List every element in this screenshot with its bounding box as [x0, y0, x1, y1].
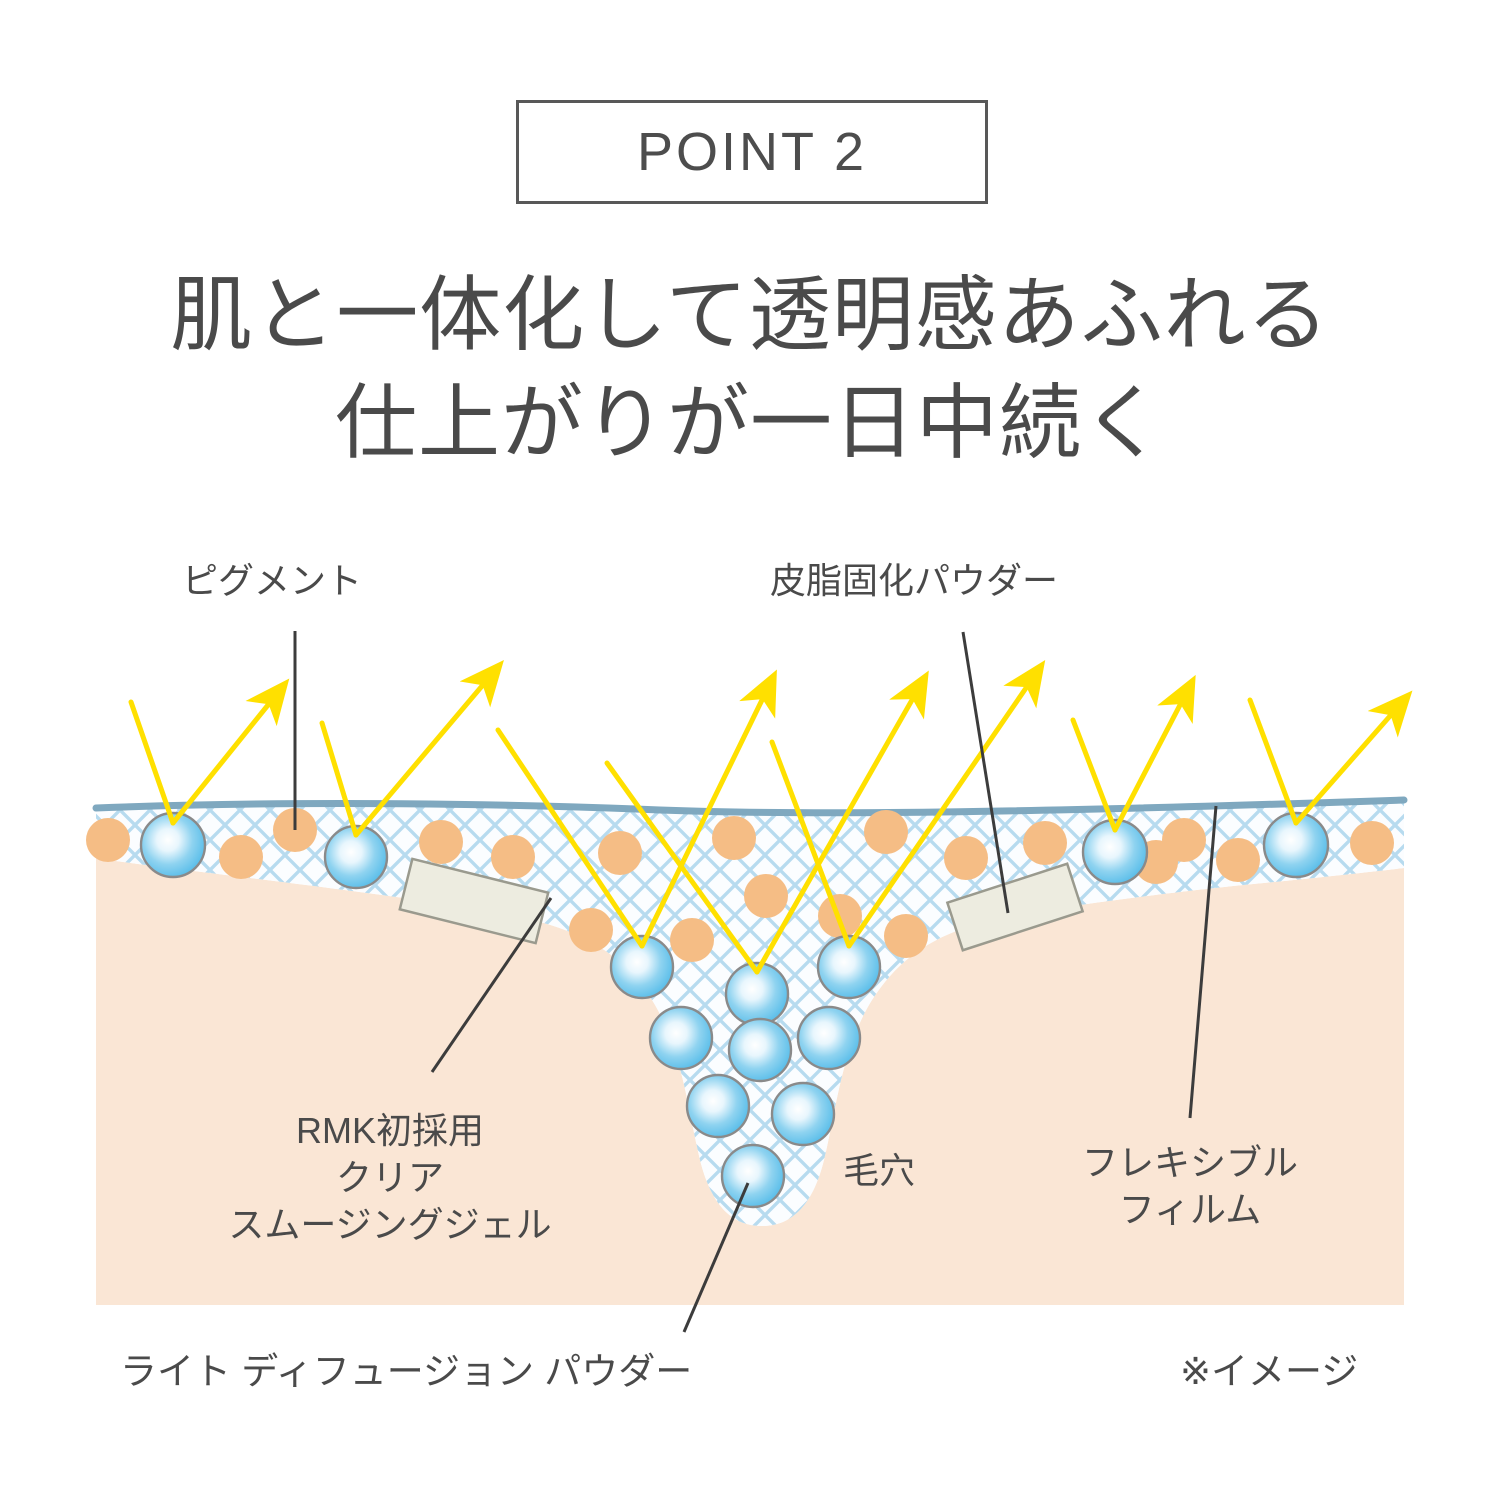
light-diffusion-sphere [729, 1019, 791, 1081]
label-flexible-film-line-1: フレキシブル [1082, 1142, 1298, 1183]
label-clear-smoothing-gel-line-1: RMK初採用 [296, 1110, 484, 1151]
skin-cross-section-diagram [0, 0, 1500, 1500]
pigment-dot [419, 820, 463, 864]
light-diffusion-sphere [722, 1145, 784, 1207]
label-flexible-film-line-2: フィルム [1119, 1189, 1262, 1230]
caption-image-disclaimer: ※イメージ [1180, 1353, 1358, 1390]
pigment-dot [1350, 821, 1394, 865]
pigment-dot [569, 908, 613, 952]
light-diffusion-sphere [687, 1075, 749, 1137]
label-pigment: ピグメント [182, 558, 362, 605]
pigment-dot [670, 918, 714, 962]
label-clear-smoothing-gel-line-3: スムージングジェル [228, 1204, 551, 1245]
pigment-dot [491, 835, 535, 879]
pigment-dot [884, 914, 928, 958]
label-clear-smoothing-gel-line-2: クリア [336, 1157, 444, 1198]
poster-root: POINT 2 肌と一体化して透明感あふれる 仕上がりが一日中続く [0, 0, 1500, 1500]
pigment-dot [598, 831, 642, 875]
light-diffusion-sphere [798, 1007, 860, 1069]
label-clear-smoothing-gel: RMK初採用 クリア スムージングジェル [185, 1108, 595, 1248]
pigment-dot [712, 816, 756, 860]
label-flexible-film: フレキシブル フィルム [1065, 1140, 1315, 1234]
pigment-dot [864, 810, 908, 854]
pigment-dot [744, 874, 788, 918]
pigment-dot [219, 835, 263, 879]
pigment-dot [1216, 838, 1260, 882]
light-diffusion-sphere [650, 1007, 712, 1069]
light-diffusion-sphere [772, 1083, 834, 1145]
pigment-dot [1023, 821, 1067, 865]
pigment-dot [944, 836, 988, 880]
label-pore: 毛穴 [843, 1148, 915, 1195]
label-sebum-powder: 皮脂固化パウダー [770, 558, 1058, 605]
caption-light-diffusion-powder: ライト ディフュージョン パウダー [120, 1353, 692, 1390]
pigment-dot [86, 818, 130, 862]
